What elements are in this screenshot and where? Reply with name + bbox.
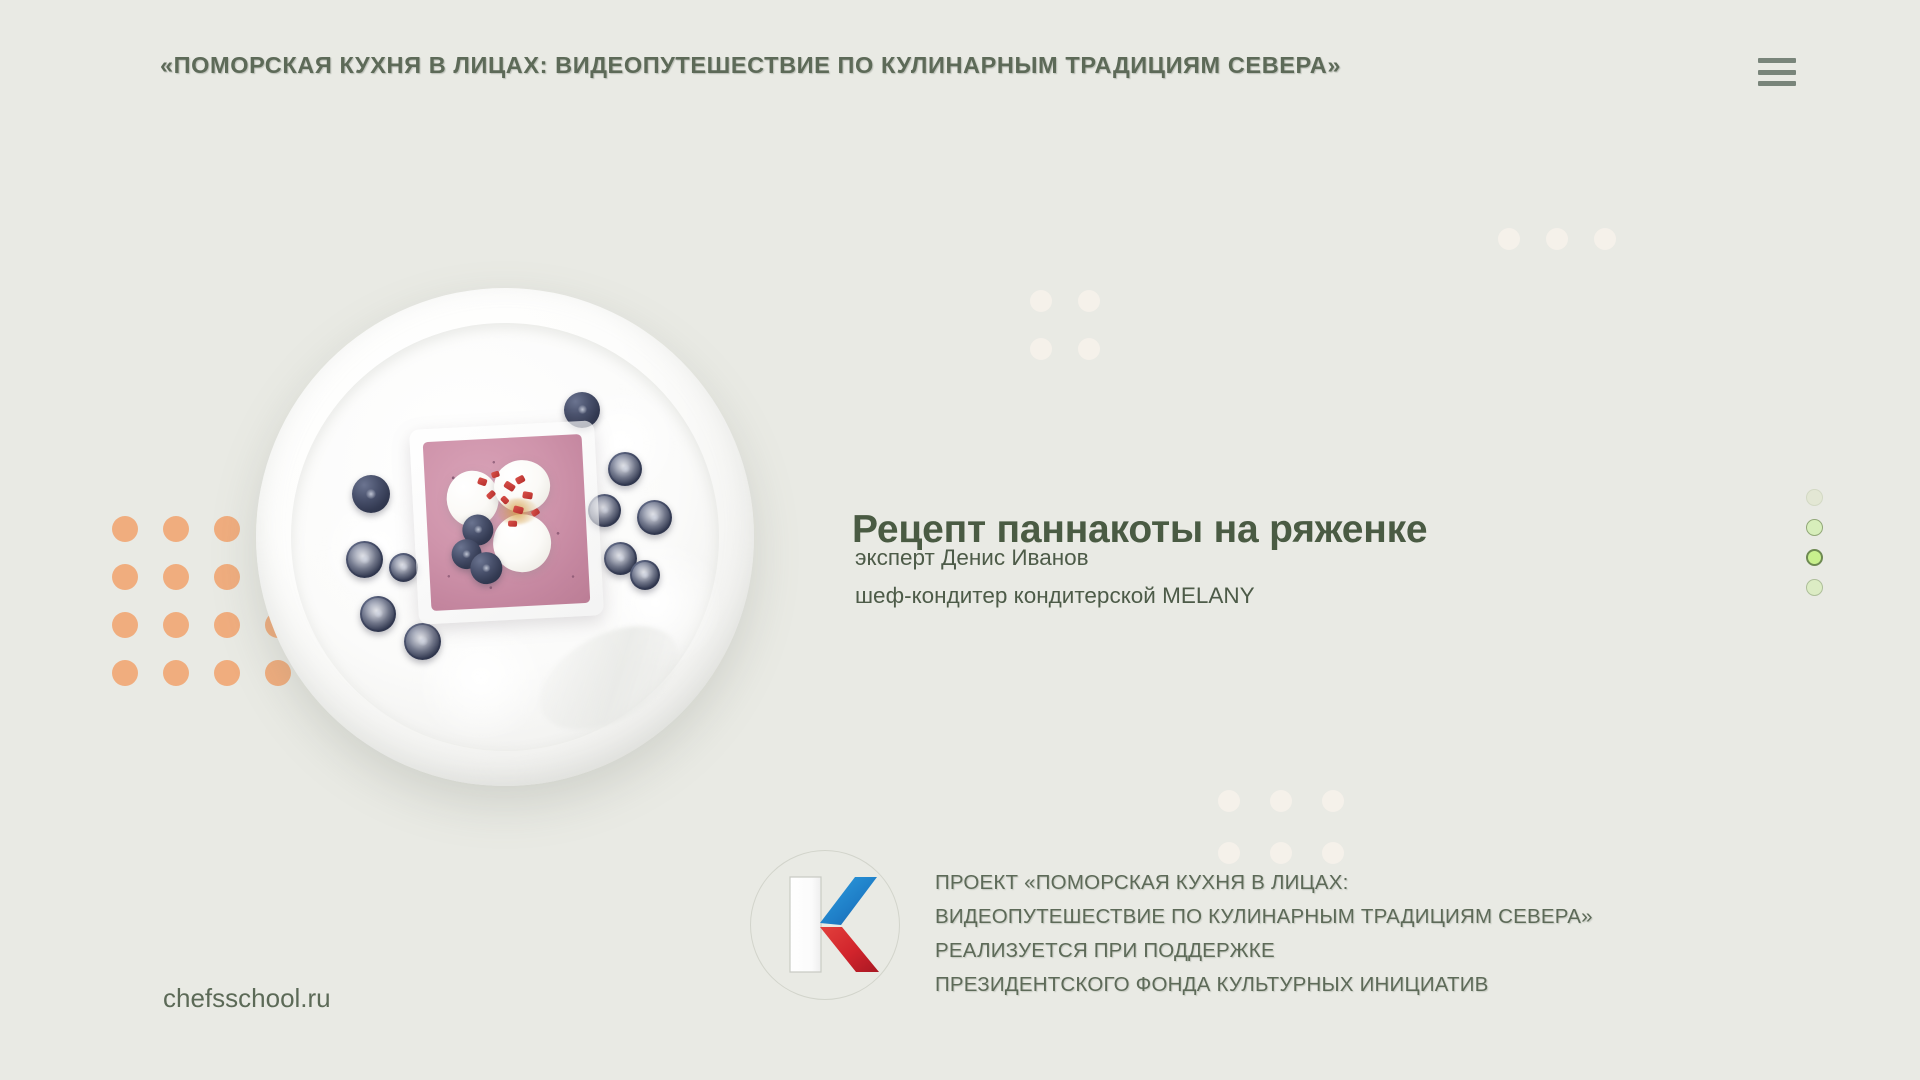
berry-crumb: [508, 521, 517, 527]
blueberry: [608, 452, 642, 486]
decor-dot: [1218, 842, 1240, 864]
menu-bar: [1758, 70, 1796, 75]
fund-support-line-3: РЕАЛИЗУЕТСЯ ПРИ ПОДДЕРЖКЕ: [935, 934, 1593, 968]
slide-pagination[interactable]: [1806, 489, 1823, 596]
decor-dot: [1546, 228, 1568, 250]
blueberry: [352, 475, 390, 513]
orange-dot: [163, 612, 189, 638]
fund-support-line-4: ПРЕЗИДЕНТСКОГО ФОНДА КУЛЬТУРНЫХ ИНИЦИАТИ…: [935, 968, 1593, 1002]
orange-dot: [214, 564, 240, 590]
berry-crumb: [522, 491, 533, 499]
decor-dot: [1030, 290, 1052, 312]
presidential-cultural-initiatives-fund-logo: [750, 850, 900, 1000]
pagination-dot-4[interactable]: [1806, 579, 1823, 596]
decor-dot: [1322, 790, 1344, 812]
decor-dot: [1218, 790, 1240, 812]
decor-dot: [1030, 338, 1052, 360]
decor-dot: [1270, 842, 1292, 864]
pagination-dot-2[interactable]: [1806, 519, 1823, 536]
orange-dot: [214, 612, 240, 638]
menu-bar: [1758, 81, 1796, 86]
decor-dot: [1270, 790, 1292, 812]
decor-dot: [1322, 842, 1344, 864]
pagination-dot-1[interactable]: [1806, 489, 1823, 506]
hamburger-menu-icon[interactable]: [1758, 58, 1796, 86]
fund-support-text: ПРОЕКТ «ПОМОРСКАЯ КУХНЯ В ЛИЦАХ: ВИДЕОПУ…: [935, 866, 1593, 1002]
orange-dot: [112, 660, 138, 686]
decorative-dots-upper-middle: [1030, 290, 1100, 360]
decor-dot: [1594, 228, 1616, 250]
orange-dot: [163, 516, 189, 542]
blueberry: [346, 541, 383, 578]
orange-dot: [163, 660, 189, 686]
dessert-glass: [409, 420, 604, 624]
decorative-dots-top-right: [1498, 228, 1616, 250]
orange-dot: [112, 564, 138, 590]
decor-dot: [1078, 290, 1100, 312]
dish-photo: [256, 288, 754, 786]
header-project-title: «ПОМОРСКАЯ КУХНЯ В ЛИЦАХ: ВИДЕОПУТЕШЕСТВ…: [160, 52, 1341, 79]
orange-dot: [214, 516, 240, 542]
blueberry: [360, 596, 396, 632]
pagination-dot-3-active[interactable]: [1806, 549, 1823, 566]
expert-role: шеф-кондитер кондитерской MELANY: [855, 583, 1255, 609]
fund-support-line-2: ВИДЕОПУТЕШЕСТВИЕ ПО КУЛИНАРНЫМ ТРАДИЦИЯМ…: [935, 900, 1593, 934]
orange-dot: [112, 612, 138, 638]
decorative-dots-above-footer: [1218, 790, 1344, 864]
decor-dot: [1078, 338, 1100, 360]
decor-dot: [1498, 228, 1520, 250]
blueberry: [404, 623, 441, 660]
blueberry: [389, 553, 418, 582]
site-url[interactable]: chefsschool.ru: [163, 983, 331, 1014]
orange-dot: [163, 564, 189, 590]
fund-support-line-1: ПРОЕКТ «ПОМОРСКАЯ КУХНЯ В ЛИЦАХ:: [935, 866, 1593, 900]
blueberry: [637, 500, 672, 535]
menu-bar: [1758, 58, 1796, 63]
blueberry: [630, 560, 660, 590]
presentation-slide: «ПОМОРСКАЯ КУХНЯ В ЛИЦАХ: ВИДЕОПУТЕШЕСТВ…: [0, 0, 1920, 1080]
expert-name: эксперт Денис Иванов: [855, 545, 1089, 571]
orange-dot: [112, 516, 138, 542]
orange-dot: [214, 660, 240, 686]
